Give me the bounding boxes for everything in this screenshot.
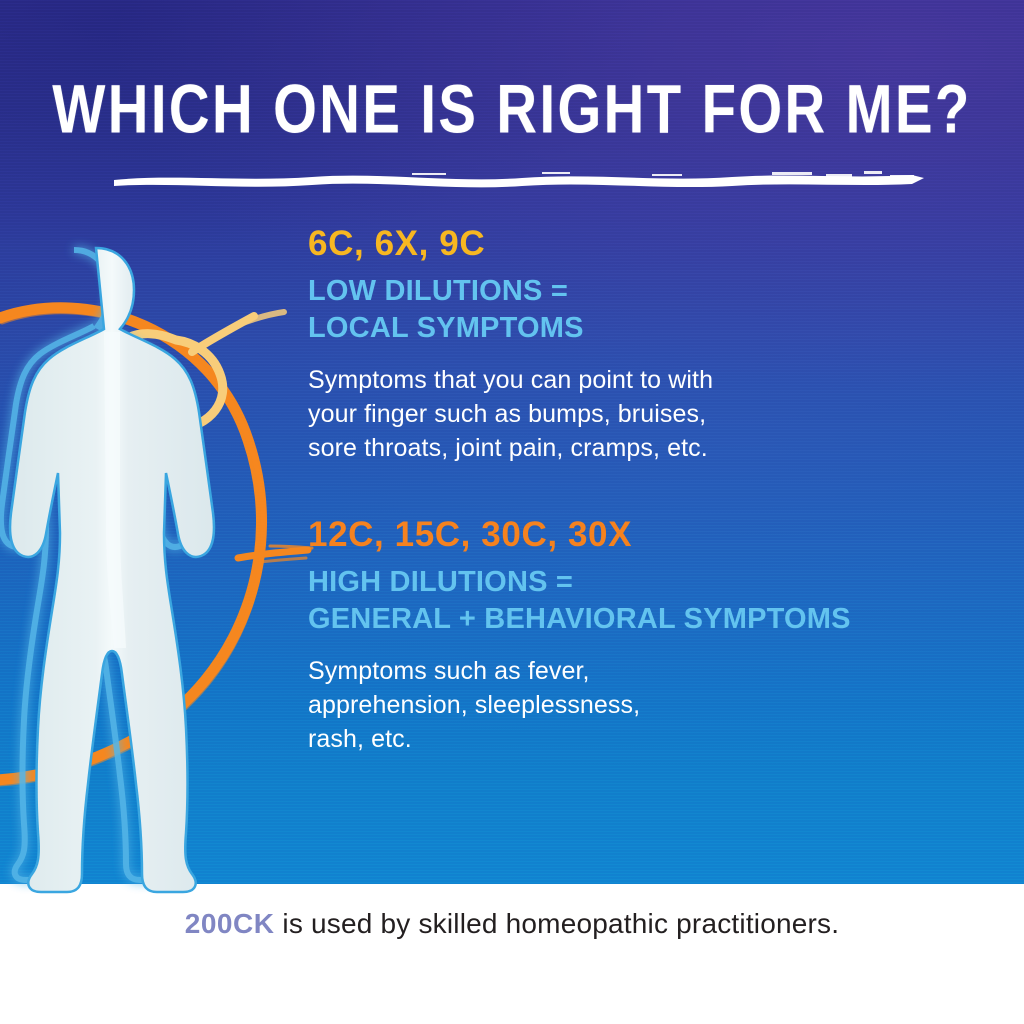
subhead-low-line2: LOCAL SYMPTOMS	[308, 310, 968, 347]
subhead-high-line2: GENERAL + BEHAVIORAL SYMPTOMS	[308, 601, 968, 638]
description-high-line1: Symptoms such as fever,	[308, 654, 968, 688]
infographic-poster: WHICH ONE IS RIGHT FOR ME?	[0, 0, 1024, 1024]
description-high-line2: apprehension, sleeplessness,	[308, 688, 968, 722]
subhead-high: HIGH DILUTIONS = GENERAL + BEHAVIORAL SY…	[308, 564, 968, 638]
subhead-high-line1: HIGH DILUTIONS =	[308, 564, 968, 601]
subhead-low-line1: LOW DILUTIONS =	[308, 273, 968, 310]
headline-underline-brushstroke	[112, 166, 932, 192]
subhead-low: LOW DILUTIONS = LOCAL SYMPTOMS	[308, 273, 968, 347]
brush-stroke-bottom-edge	[0, 964, 1024, 1024]
dilution-block-high: 12C, 15C, 30C, 30X HIGH DILUTIONS = GENE…	[308, 517, 968, 756]
human-body-silhouette	[0, 228, 294, 908]
footer-note: 200CK is used by skilled homeopathic pra…	[0, 908, 1024, 940]
description-low: Symptoms that you can point to with your…	[308, 363, 968, 465]
description-low-line3: sore throats, joint pain, cramps, etc.	[308, 431, 968, 465]
description-low-line2: your finger such as bumps, bruises,	[308, 397, 968, 431]
dose-label-high: 12C, 15C, 30C, 30X	[308, 517, 968, 554]
dose-label-low: 6C, 6X, 9C	[308, 226, 968, 263]
footer-dose-code: 200CK	[185, 908, 275, 939]
dilution-block-low: 6C, 6X, 9C LOW DILUTIONS = LOCAL SYMPTOM…	[308, 226, 968, 465]
page-title: WHICH ONE IS RIGHT FOR ME?	[15, 76, 1008, 144]
description-high-line3: rash, etc.	[308, 722, 968, 756]
content-column: 6C, 6X, 9C LOW DILUTIONS = LOCAL SYMPTOM…	[308, 226, 968, 756]
description-high: Symptoms such as fever, apprehension, sl…	[308, 654, 968, 756]
footer-note-text: is used by skilled homeopathic practitio…	[274, 908, 839, 939]
description-low-line1: Symptoms that you can point to with	[308, 363, 968, 397]
